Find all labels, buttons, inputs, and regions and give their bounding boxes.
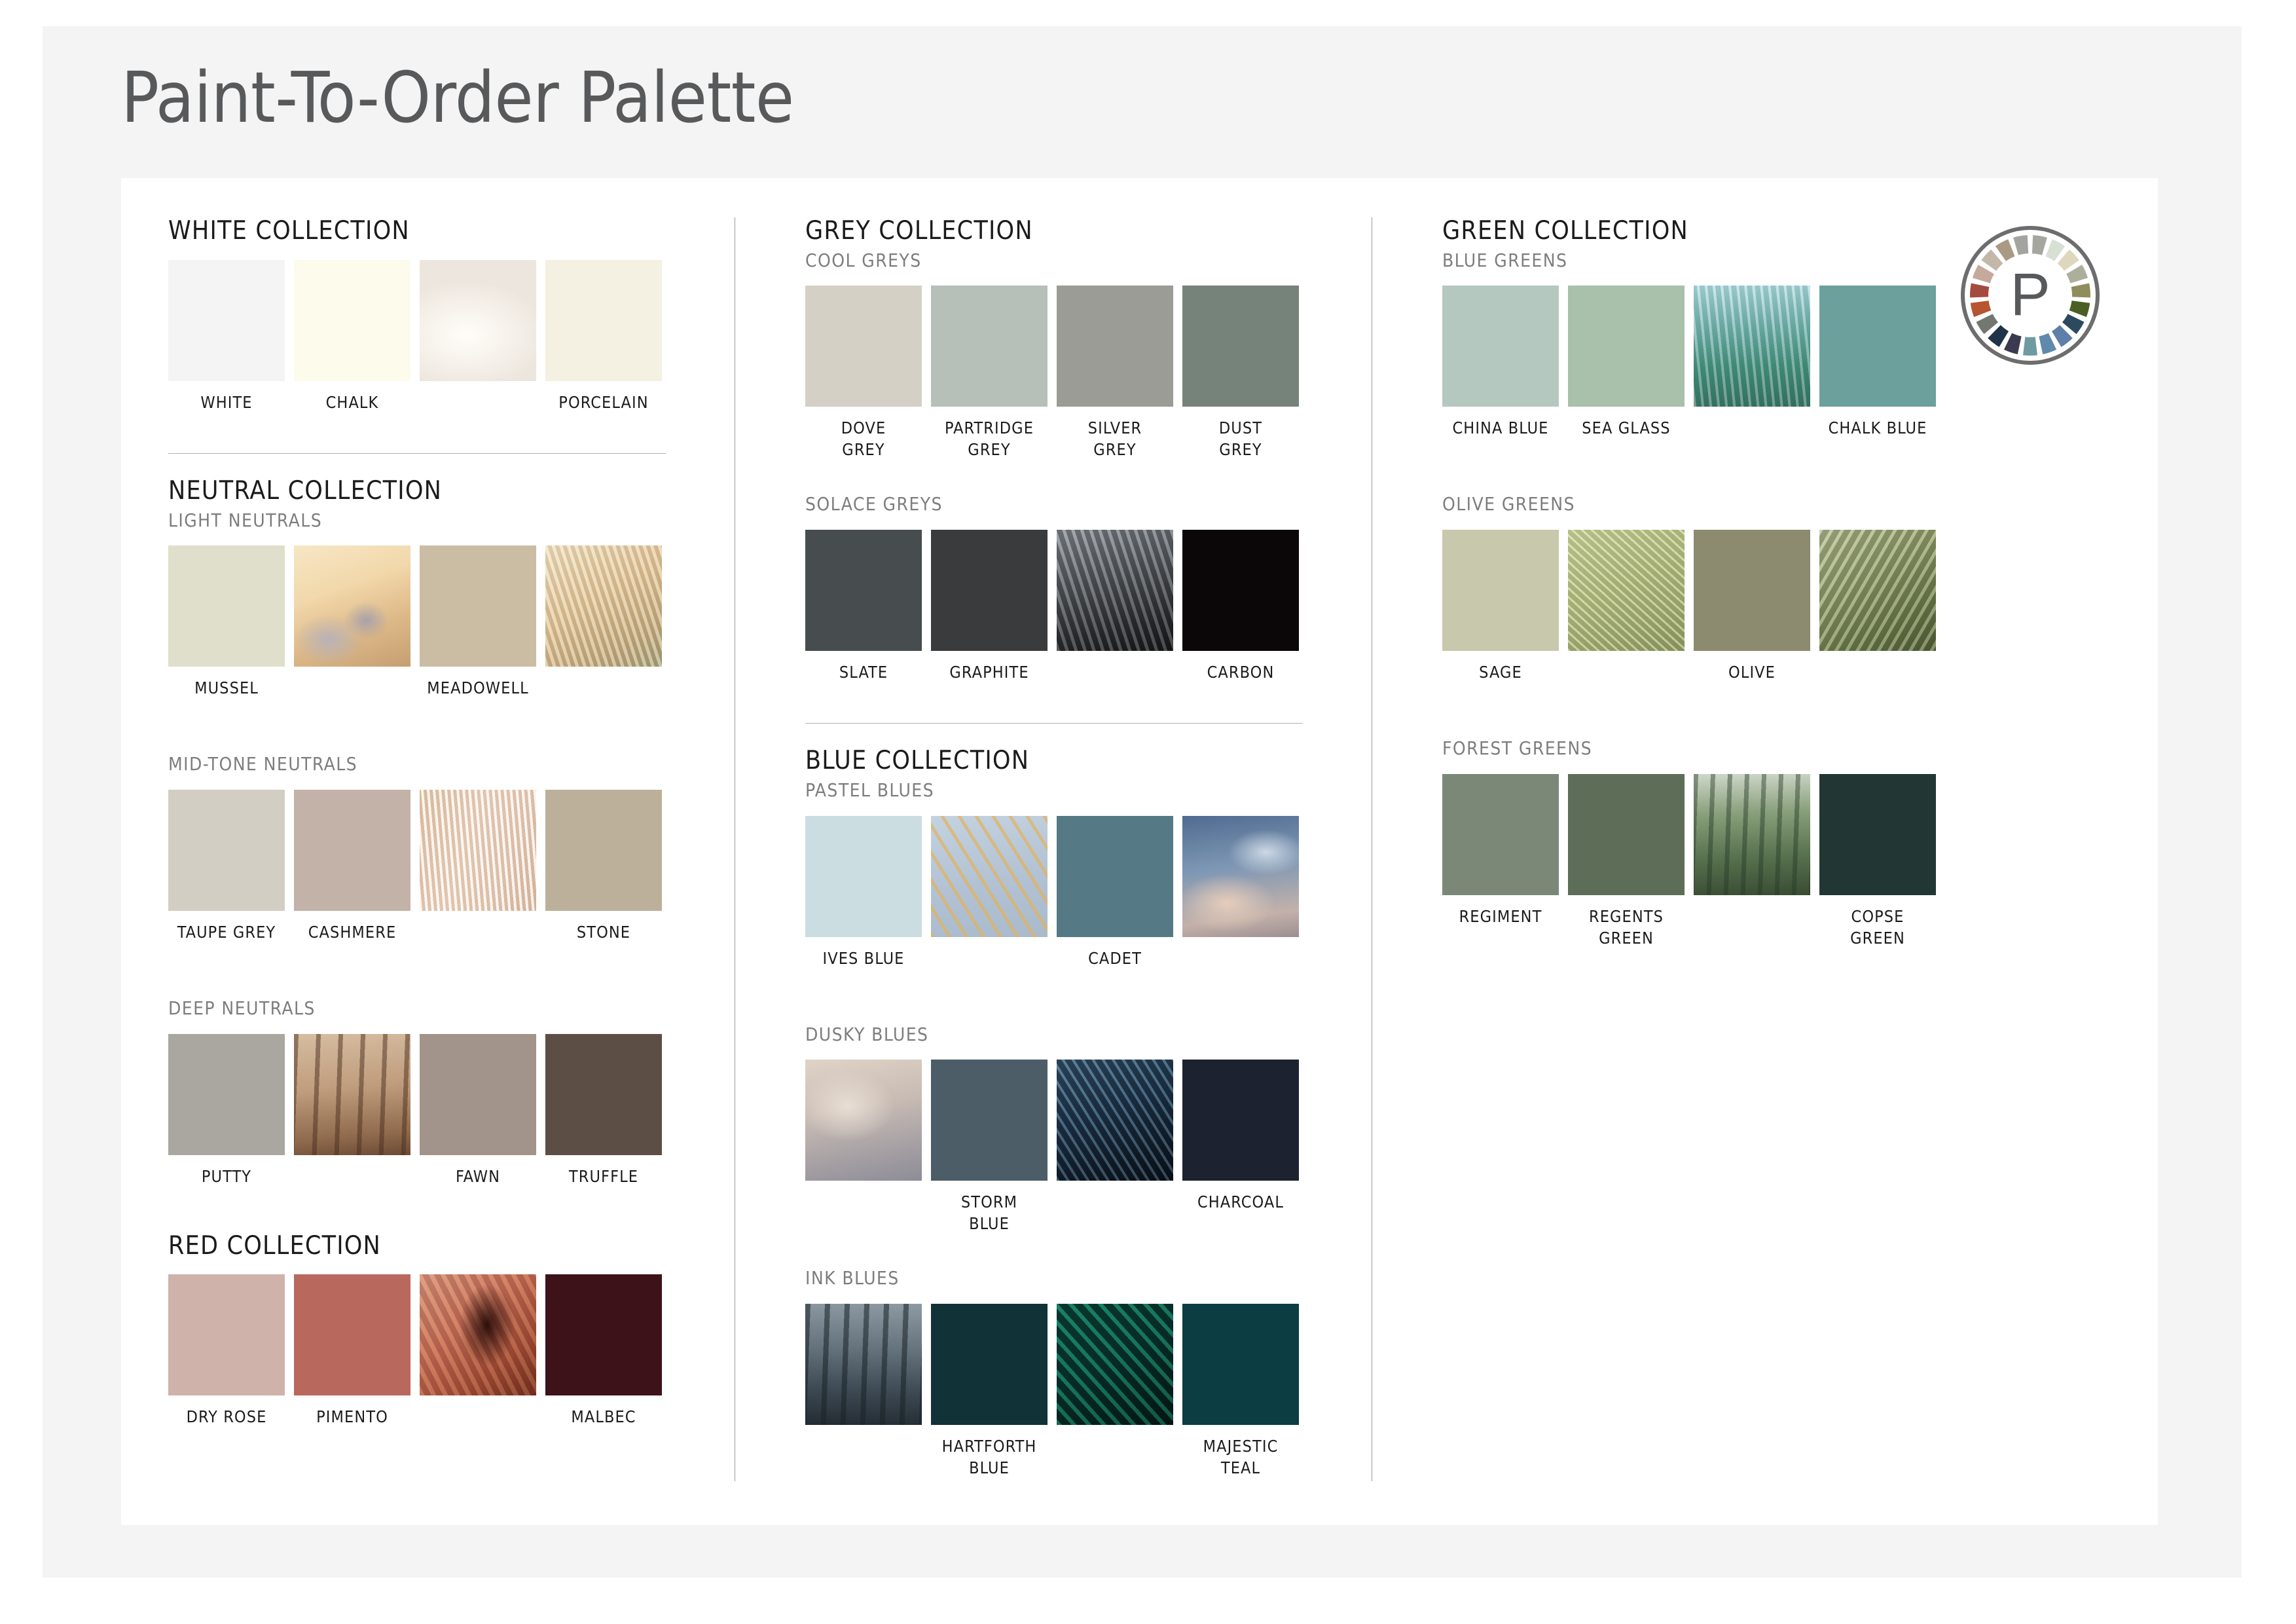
swatch-label: DRY ROSE <box>168 1406 285 1428</box>
swatch-label-row: SAGEOLIVE <box>1442 661 1940 705</box>
swatch-colour[interactable] <box>931 1304 1048 1425</box>
swatch-photo[interactable] <box>931 816 1048 937</box>
swatch-photo[interactable] <box>1057 1304 1173 1425</box>
swatch-group: FOREST GREENSREGIMENTREGENTS GREENCOPSE … <box>1442 737 1940 949</box>
collection-subtitle: BLUE GREENS <box>1442 249 1940 272</box>
swatch-label: PUTTY <box>168 1166 285 1187</box>
swatch-label: CHINA BLUE <box>1442 417 1559 439</box>
swatch-colour[interactable] <box>168 545 285 667</box>
swatch-row <box>805 816 1303 937</box>
swatch-colour[interactable] <box>1057 286 1173 407</box>
logo-letter: P <box>2010 261 2050 328</box>
swatch-colour[interactable] <box>1819 774 1936 895</box>
swatch-label-row: WHITECHALKPORCELAIN <box>168 392 666 435</box>
swatch-label: COPSE GREEN <box>1819 906 1936 949</box>
swatch-row <box>1442 530 1940 651</box>
collection-subtitle: COOL GREYS <box>805 249 1303 272</box>
swatch-label: PIMENTO <box>294 1406 410 1428</box>
logo-wheel-segment <box>2046 239 2066 261</box>
swatch-group: MID-TONE NEUTRALSTAUPE GREYCASHMERESTONE <box>168 753 666 965</box>
logo-wheel-segment <box>1970 283 1989 297</box>
swatch-colour[interactable] <box>1568 774 1685 895</box>
brand-logo-icon: P <box>1958 223 2103 368</box>
swatch-group-title: FOREST GREENS <box>1442 737 1940 760</box>
swatch-label: CASHMERE <box>294 921 410 943</box>
swatch-group: MUSSELMEADOWELL <box>168 545 666 720</box>
column-divider-2 <box>1372 217 1372 1481</box>
swatch-colour[interactable] <box>1568 286 1685 407</box>
swatch-row <box>168 545 666 667</box>
swatch-colour[interactable] <box>1442 530 1559 651</box>
swatch-label: CADET <box>1057 948 1173 969</box>
swatch-label: PARTRIDGE GREY <box>931 417 1048 460</box>
swatch-photo[interactable] <box>420 260 536 381</box>
swatch-label-row: CHINA BLUESEA GLASSCHALK BLUE <box>1442 417 1940 460</box>
logo-wheel-segment <box>1971 301 1992 317</box>
swatch-group-title: MID-TONE NEUTRALS <box>168 753 666 775</box>
collection-title: GREEN COLLECTION <box>1442 217 1940 246</box>
swatch-colour[interactable] <box>931 1060 1048 1181</box>
swatch-colour[interactable] <box>805 816 922 937</box>
swatch-photo[interactable] <box>420 790 536 911</box>
swatch-label: CHARCOAL <box>1182 1191 1299 1213</box>
page-title: Paint-To-Order Palette <box>121 58 794 139</box>
swatch-label: STONE <box>545 921 662 943</box>
swatch-colour[interactable] <box>1819 286 1936 407</box>
swatch-colour[interactable] <box>168 790 285 911</box>
swatch-photo[interactable] <box>1819 530 1936 651</box>
logo-wheel-segment <box>2039 333 2056 354</box>
swatch-group: IVES BLUECADET <box>805 816 1303 991</box>
swatch-colour[interactable] <box>1442 774 1559 895</box>
swatch-colour[interactable] <box>545 1274 662 1395</box>
swatch-colour[interactable] <box>168 1274 285 1395</box>
swatch-label-row: HARTFORTH BLUEMAJESTIC TEAL <box>805 1435 1303 1479</box>
logo-wheel-segment <box>1981 249 2003 271</box>
logo-wheel-segment <box>2052 325 2073 346</box>
logo-wheel-segment <box>2066 265 2088 283</box>
swatch-group: CHINA BLUESEA GLASSCHALK BLUE <box>1442 286 1940 460</box>
swatch-label: SILVER GREY <box>1057 417 1173 460</box>
swatch-group-title: INK BLUES <box>805 1267 1303 1289</box>
column-grey-blue: GREY COLLECTIONCOOL GREYSDOVE GREYPARTRI… <box>805 217 1303 1479</box>
swatch-label-row: DOVE GREYPARTRIDGE GREYSILVER GREYDUST G… <box>805 417 1303 460</box>
swatch-colour[interactable] <box>420 1034 536 1155</box>
logo-wheel-segment <box>2013 235 2028 255</box>
swatch-colour[interactable] <box>545 1034 662 1155</box>
swatch-photo[interactable] <box>1057 1060 1173 1181</box>
swatch-colour[interactable] <box>1182 1304 1299 1425</box>
group-spacer <box>805 1234 1303 1263</box>
swatch-photo[interactable] <box>545 545 662 667</box>
swatch-colour[interactable] <box>294 260 410 381</box>
swatch-label: CHALK <box>294 392 410 413</box>
swatch-label-row: PUTTYFAWNTRUFFLE <box>168 1166 666 1209</box>
logo-wheel-segment <box>2058 249 2079 271</box>
swatch-photo[interactable] <box>420 1274 536 1395</box>
swatch-group: WHITECHALKPORCELAIN <box>168 260 666 435</box>
logo-wheel-segment <box>2032 235 2047 255</box>
swatch-label: REGIMENT <box>1442 906 1559 927</box>
section-spacer <box>168 1209 666 1232</box>
collection-subtitle: PASTEL BLUES <box>805 779 1303 802</box>
swatch-colour[interactable] <box>420 545 536 667</box>
swatch-label: MAJESTIC TEAL <box>1182 1435 1299 1479</box>
swatch-label: MALBEC <box>545 1406 662 1428</box>
swatch-group-title: DEEP NEUTRALS <box>168 997 666 1020</box>
group-spacer <box>168 720 666 749</box>
swatch-label-row: DRY ROSEPIMENTOMALBEC <box>168 1406 666 1449</box>
swatch-group-title: DUSKY BLUES <box>805 1024 1303 1046</box>
swatch-row <box>805 530 1303 651</box>
swatch-colour[interactable] <box>168 1034 285 1155</box>
swatch-group-title: SOLACE GREYS <box>805 493 1303 515</box>
swatch-label-row: SLATEGRAPHITECARBON <box>805 661 1303 705</box>
swatch-group-title: OLIVE GREENS <box>1442 493 1940 515</box>
swatch-label: TRUFFLE <box>545 1166 662 1187</box>
swatch-label: DUST GREY <box>1182 417 1299 460</box>
group-spacer <box>168 965 666 993</box>
swatch-label: PORCELAIN <box>545 392 662 413</box>
swatch-row <box>168 260 666 381</box>
collection-title: BLUE COLLECTION <box>805 747 1303 775</box>
swatch-label: REGENTS GREEN <box>1568 906 1685 949</box>
swatch-row <box>805 286 1303 407</box>
group-spacer <box>1442 460 1940 489</box>
swatch-photo[interactable] <box>294 1034 410 1155</box>
swatch-label: HARTFORTH BLUE <box>931 1435 1048 1479</box>
swatch-label: SAGE <box>1442 661 1559 683</box>
swatch-colour[interactable] <box>294 1274 410 1395</box>
swatch-group: SOLACE GREYSSLATEGRAPHITECARBON <box>805 493 1303 705</box>
swatch-colour[interactable] <box>168 260 285 381</box>
swatch-colour[interactable] <box>1057 816 1173 937</box>
logo-wheel-segment <box>1988 325 2009 346</box>
section-spacer <box>805 724 1303 747</box>
swatch-label: IVES BLUE <box>805 948 922 969</box>
swatch-colour[interactable] <box>1182 530 1299 651</box>
swatch-group: OLIVE GREENSSAGEOLIVE <box>1442 493 1940 705</box>
swatch-colour[interactable] <box>1182 286 1299 407</box>
swatch-label: TAUPE GREY <box>168 921 285 943</box>
logo-wheel-segment <box>1973 265 1994 283</box>
column-white-neutral-red: WHITE COLLECTIONWHITECHALKPORCELAINNEUTR… <box>168 217 666 1449</box>
swatch-colour[interactable] <box>1442 286 1559 407</box>
swatch-row <box>1442 774 1940 895</box>
logo-wheel-segment <box>1995 239 2015 261</box>
swatch-label: GRAPHITE <box>931 661 1048 683</box>
swatch-photo[interactable] <box>805 1060 922 1181</box>
swatch-photo[interactable] <box>1694 286 1810 407</box>
swatch-row <box>168 790 666 911</box>
collection-title: GREY COLLECTION <box>805 217 1303 246</box>
swatch-row <box>168 1034 666 1155</box>
swatch-group: DEEP NEUTRALSPUTTYFAWNTRUFFLE <box>168 997 666 1209</box>
logo-wheel-segment <box>2023 337 2037 356</box>
swatch-row <box>805 1060 1303 1181</box>
swatch-colour[interactable] <box>294 790 410 911</box>
swatch-label: FAWN <box>420 1166 536 1187</box>
swatch-group: DUSKY BLUESSTORM BLUECHARCOAL <box>805 1024 1303 1235</box>
swatch-colour[interactable] <box>805 530 922 651</box>
palette-content-card: WHITE COLLECTIONWHITECHALKPORCELAINNEUTR… <box>121 178 2158 1525</box>
swatch-group: INK BLUESHARTFORTH BLUEMAJESTIC TEAL <box>805 1267 1303 1479</box>
collection-title: RED COLLECTION <box>168 1232 666 1261</box>
swatch-label-row: TAUPE GREYCASHMERESTONE <box>168 921 666 965</box>
swatch-label: CARBON <box>1182 661 1299 683</box>
swatch-colour[interactable] <box>931 286 1048 407</box>
swatch-label: SLATE <box>805 661 922 683</box>
swatch-row <box>805 1304 1303 1425</box>
swatch-label: STORM BLUE <box>931 1191 1048 1234</box>
swatch-photo[interactable] <box>805 1304 922 1425</box>
group-spacer <box>805 991 1303 1020</box>
swatch-colour[interactable] <box>805 286 922 407</box>
swatch-label: CHALK BLUE <box>1819 417 1936 439</box>
swatch-photo[interactable] <box>294 545 410 667</box>
swatch-photo[interactable] <box>1568 530 1685 651</box>
swatch-label-row: REGIMENTREGENTS GREENCOPSE GREEN <box>1442 906 1940 949</box>
swatch-label-row: IVES BLUECADET <box>805 948 1303 991</box>
swatch-colour[interactable] <box>931 530 1048 651</box>
collection-title: NEUTRAL COLLECTION <box>168 477 666 506</box>
section-spacer <box>168 454 666 477</box>
column-divider-1 <box>735 217 735 1481</box>
swatch-photo[interactable] <box>1182 816 1299 937</box>
swatch-photo[interactable] <box>1694 774 1810 895</box>
swatch-colour[interactable] <box>545 790 662 911</box>
group-spacer <box>1442 705 1940 733</box>
swatch-label: DOVE GREY <box>805 417 922 460</box>
column-green: GREEN COLLECTIONBLUE GREENSCHINA BLUESEA… <box>1442 217 1940 949</box>
swatch-label: SEA GLASS <box>1568 417 1685 439</box>
swatch-group: DRY ROSEPIMENTOMALBEC <box>168 1274 666 1449</box>
swatch-label-row: MUSSELMEADOWELL <box>168 677 666 720</box>
swatch-photo[interactable] <box>1057 530 1173 651</box>
swatch-label: MUSSEL <box>168 677 285 699</box>
swatch-row <box>1442 286 1940 407</box>
swatch-group: DOVE GREYPARTRIDGE GREYSILVER GREYDUST G… <box>805 286 1303 460</box>
swatch-label: WHITE <box>168 392 285 413</box>
logo-wheel-segment <box>2004 333 2022 354</box>
collection-subtitle: LIGHT NEUTRALS <box>168 509 666 532</box>
swatch-label: MEADOWELL <box>420 677 536 699</box>
logo-wheel-segment <box>2071 283 2090 297</box>
swatch-row <box>168 1274 666 1395</box>
logo-wheel-segment <box>2069 301 2090 317</box>
group-spacer <box>805 460 1303 489</box>
swatch-label: OLIVE <box>1694 661 1810 683</box>
swatch-colour[interactable] <box>1182 1060 1299 1181</box>
collection-title: WHITE COLLECTION <box>168 217 666 246</box>
swatch-colour[interactable] <box>1694 530 1810 651</box>
swatch-colour[interactable] <box>545 260 662 381</box>
swatch-label-row: STORM BLUECHARCOAL <box>805 1191 1303 1234</box>
